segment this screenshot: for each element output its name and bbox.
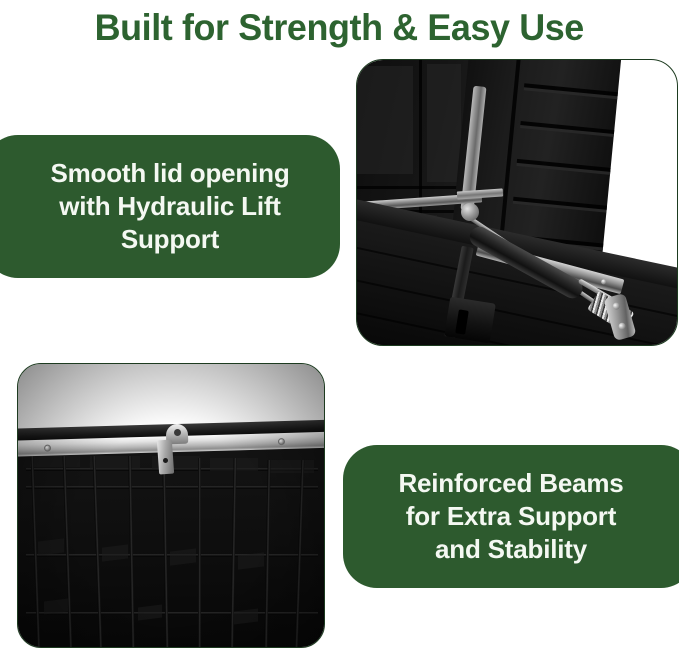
feature-badge-lid-opening-text: Smooth lid opening with Hydraulic Lift S…: [50, 157, 289, 256]
page-title: Built for Strength & Easy Use: [0, 0, 679, 56]
lid-hinge-eye: [174, 429, 181, 436]
bracket-bolt: [618, 322, 627, 331]
beam-cell-highlight: [268, 460, 314, 473]
hydraulic-lift-photo: [356, 59, 678, 346]
reinforced-beams-photo-stage: [18, 364, 324, 647]
beam-cell-highlight: [90, 456, 140, 469]
page-title-text: Built for Strength & Easy Use: [95, 8, 584, 48]
beam-vertical: [198, 458, 201, 647]
lid-latch-housing: [444, 297, 496, 344]
lid-rib: [520, 121, 614, 134]
feature-badge-lid-opening: Smooth lid opening with Hydraulic Lift S…: [0, 135, 340, 278]
lid-rib: [524, 83, 618, 96]
body-seam: [357, 186, 467, 189]
rail-screw: [278, 438, 285, 445]
body-highlight: [427, 64, 461, 182]
strut-pivot-knuckle: [461, 203, 479, 221]
rail-screw: [44, 445, 51, 452]
bracket-bolt: [612, 302, 621, 311]
beam-cell-highlight: [30, 454, 80, 467]
hydraulic-lift-photo-stage: [357, 60, 677, 345]
feature-badge-reinforced-beams: Reinforced Beams for Extra Support and S…: [343, 445, 679, 588]
body-highlight: [357, 66, 413, 174]
lid-hinge-tab: [157, 440, 174, 475]
rail-screw: [601, 279, 607, 285]
lid-rib: [513, 197, 607, 210]
feature-badge-reinforced-beams-text: Reinforced Beams for Extra Support and S…: [398, 467, 623, 566]
lid-rib: [517, 159, 611, 172]
beam-horizontal: [26, 486, 318, 489]
reinforced-beams-photo: [17, 363, 325, 648]
lid-hinge-tab-hole: [163, 458, 168, 463]
